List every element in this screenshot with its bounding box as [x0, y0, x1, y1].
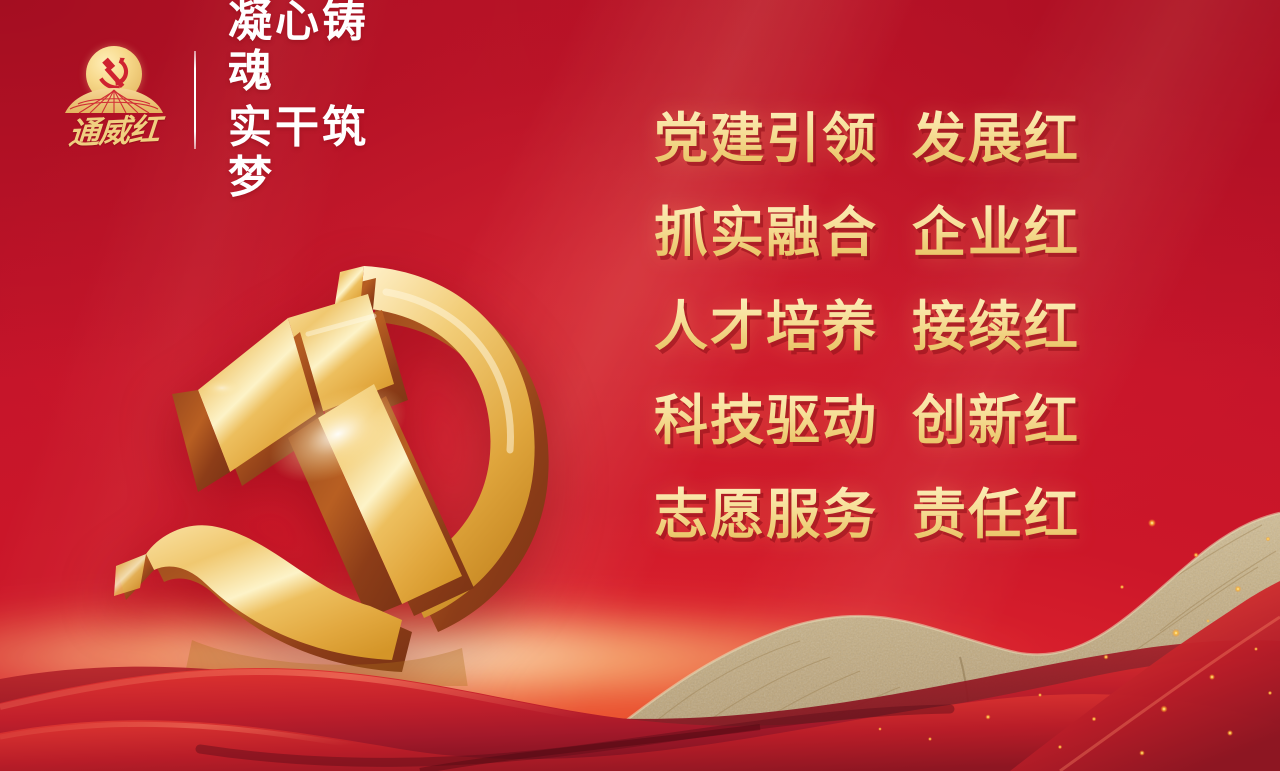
logo-divider [194, 51, 196, 149]
slogan-left-1: 党建引领 [654, 106, 878, 172]
slogan-row: 人才培养 接续红 [654, 294, 1114, 388]
slogan-left-3: 人才培养 [654, 294, 878, 360]
brand-slogan: 凝心铸魂 实干筑梦 [228, 0, 412, 203]
slogan-row: 抓实融合 企业红 [654, 200, 1114, 294]
party-building-banner: 通威红 凝心铸魂 实干筑梦 [0, 0, 1280, 771]
brand-slogan-line-2: 实干筑梦 [228, 103, 412, 203]
brand-logo-mark: 通威红 [62, 44, 166, 156]
slogan-right-2: 企业红 [912, 200, 1080, 266]
slogan-left-2: 抓实融合 [654, 200, 878, 266]
slogan-right-5: 责任红 [912, 482, 1080, 548]
brand-slogan-line-1: 凝心铸魂 [228, 0, 412, 97]
slogan-row: 志愿服务 责任红 [654, 482, 1114, 576]
slogan-left-4: 科技驱动 [654, 388, 878, 454]
slogan-right-1: 发展红 [912, 106, 1080, 172]
slogan-row: 党建引领 发展红 [654, 106, 1114, 200]
logo-wordmark: 通威红 [64, 108, 164, 156]
brand-logo-block: 通威红 凝心铸魂 实干筑梦 [62, 40, 412, 160]
slogan-right-4: 创新红 [912, 388, 1080, 454]
slogan-row: 科技驱动 创新红 [654, 388, 1114, 482]
slogan-left-5: 志愿服务 [654, 482, 878, 548]
slogan-list: 党建引领 发展红 抓实融合 企业红 人才培养 接续红 科技驱动 创新红 志愿服务… [654, 106, 1114, 576]
slogan-right-3: 接续红 [912, 294, 1080, 360]
